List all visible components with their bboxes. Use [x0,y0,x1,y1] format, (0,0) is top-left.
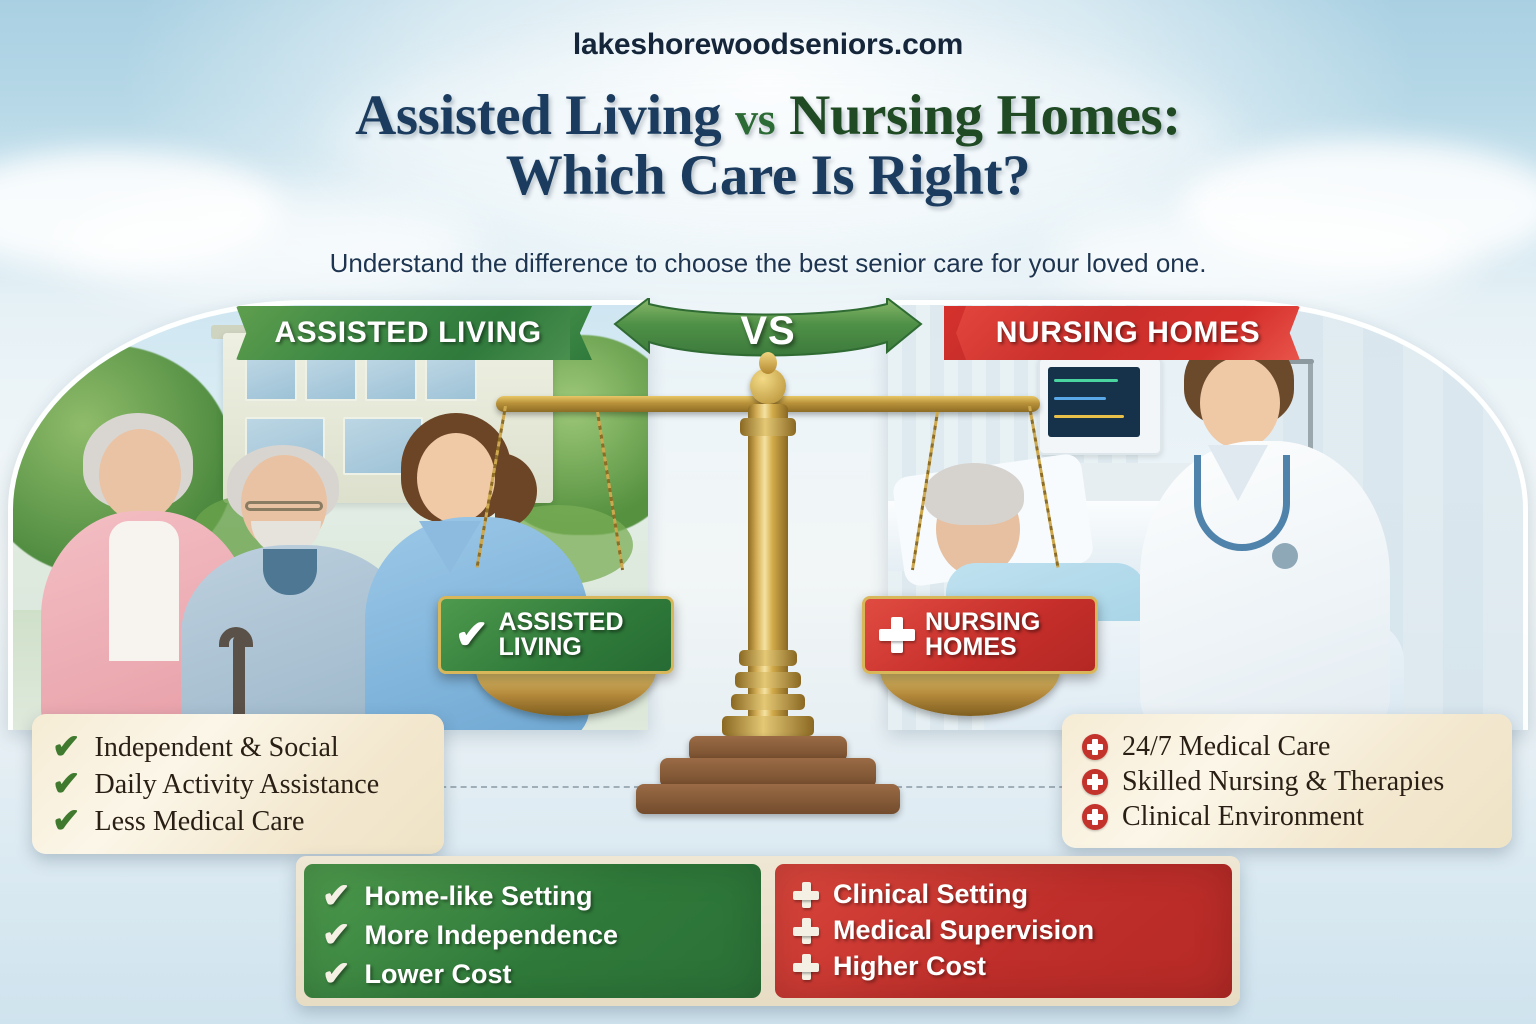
bottom-comparison-panels: ✔ Home-like Setting ✔ More Independence … [296,856,1240,1006]
chain [911,412,939,570]
plaque-line-2: HOMES [925,633,1017,661]
ribbon-nursing-homes-label: NURSING HOMES [996,316,1261,350]
balance-scale [468,360,1068,830]
plaque-line-1: NURSING [925,608,1040,636]
bottom-feature-row: ✔ Lower Cost [322,957,743,991]
bottom-feature-row: Higher Cost [793,951,1214,982]
site-url: lakeshorewoodseniors.com [0,28,1536,62]
bottom-feature-row: Medical Supervision [793,915,1214,946]
plus-icon [793,882,819,908]
medical-plus-icon [1082,734,1108,760]
stethoscope-icon [1194,455,1290,551]
feature-row: 24/7 Medical Care [1082,731,1492,763]
feature-label: Daily Activity Assistance [95,769,380,801]
plaque-line-1: ASSISTED [499,608,624,636]
bottom-feature-row: ✔ More Independence [322,918,743,952]
check-icon: ✔ [455,615,489,655]
title-assisted-living: Assisted Living [355,84,721,147]
head [99,429,181,521]
medical-plus-icon [1082,769,1108,795]
nursing-home-feature-card: 24/7 Medical Care Skilled Nursing & Ther… [1062,714,1512,848]
feature-label: Independent & Social [95,732,339,764]
title-nursing-homes: Nursing Homes: [789,84,1181,147]
scale-collar [731,694,805,710]
plaque-assisted-living-label: ASSISTED LIVING [499,610,624,661]
chain [1028,406,1059,568]
head [1200,357,1280,449]
bottom-feature-label: Lower Cost [365,959,512,990]
scale-base-tier [636,784,900,814]
ribbon-nursing-homes: NURSING HOMES [956,306,1300,360]
window [305,357,357,401]
title-line-2: Which Care Is Right? [0,148,1536,204]
cloud [60,190,480,300]
window [365,357,417,401]
check-icon: ✔ [322,918,351,952]
window [245,357,297,401]
feature-row: Clinical Environment [1082,801,1492,833]
shirt [109,521,179,661]
plaque-nursing-homes: NURSING HOMES [862,596,1098,674]
eyeglasses [245,501,323,511]
scale-pan-right [880,670,1060,716]
page-subtitle: Understand the difference to choose the … [0,248,1536,279]
chain [476,406,507,568]
bottom-panel-assisted-living: ✔ Home-like Setting ✔ More Independence … [304,864,761,998]
bottom-panel-nursing-homes: Clinical Setting Medical Supervision Hig… [775,864,1232,998]
feature-label: Skilled Nursing & Therapies [1122,766,1444,798]
vs-label: VS [740,309,795,354]
title-vs: vs [735,93,775,144]
feature-label: 24/7 Medical Care [1122,731,1330,763]
bottom-feature-label: Higher Cost [833,951,986,982]
scale-collar [722,716,814,736]
feature-row: ✔ Independent & Social [52,731,424,765]
check-icon: ✔ [52,731,81,765]
bottom-feature-label: Home-like Setting [365,881,593,912]
scale-pan-left [476,670,656,716]
plaque-nursing-homes-label: NURSING HOMES [925,610,1040,661]
ribbon-assisted-living-label: ASSISTED LIVING [274,316,541,350]
scale-collar [739,650,797,666]
plaque-assisted-living: ✔ ASSISTED LIVING [438,596,674,674]
stethoscope-bell [1272,543,1298,569]
bottom-feature-label: Clinical Setting [833,879,1028,910]
chain [596,412,624,570]
medical-plus-icon [1082,804,1108,830]
infographic-canvas: lakeshorewoodseniors.com Assisted Living… [0,0,1536,1024]
scale-collar [735,672,801,688]
scale-finial [759,352,777,374]
plus-icon [793,918,819,944]
plus-icon [793,954,819,980]
feature-label: Less Medical Care [95,806,305,838]
medical-plus-icon [879,617,915,653]
feature-row: Skilled Nursing & Therapies [1082,766,1492,798]
feature-row: ✔ Daily Activity Assistance [52,768,424,802]
assisted-living-feature-card: ✔ Independent & Social ✔ Daily Activity … [32,714,444,854]
bottom-feature-row: Clinical Setting [793,879,1214,910]
plaque-line-2: LIVING [499,633,582,661]
check-icon: ✔ [52,768,81,802]
page-title: Assisted Living vs Nursing Homes: Which … [0,88,1536,204]
bottom-feature-label: Medical Supervision [833,915,1094,946]
bottom-feature-label: More Independence [365,920,619,951]
feature-row: ✔ Less Medical Care [52,805,424,839]
ribbon-assisted-living: ASSISTED LIVING [236,306,580,360]
scale-collar [740,418,796,436]
feature-label: Clinical Environment [1122,801,1364,833]
check-icon: ✔ [322,879,351,913]
check-icon: ✔ [322,957,351,991]
bottom-feature-row: ✔ Home-like Setting [322,879,743,913]
check-icon: ✔ [52,805,81,839]
